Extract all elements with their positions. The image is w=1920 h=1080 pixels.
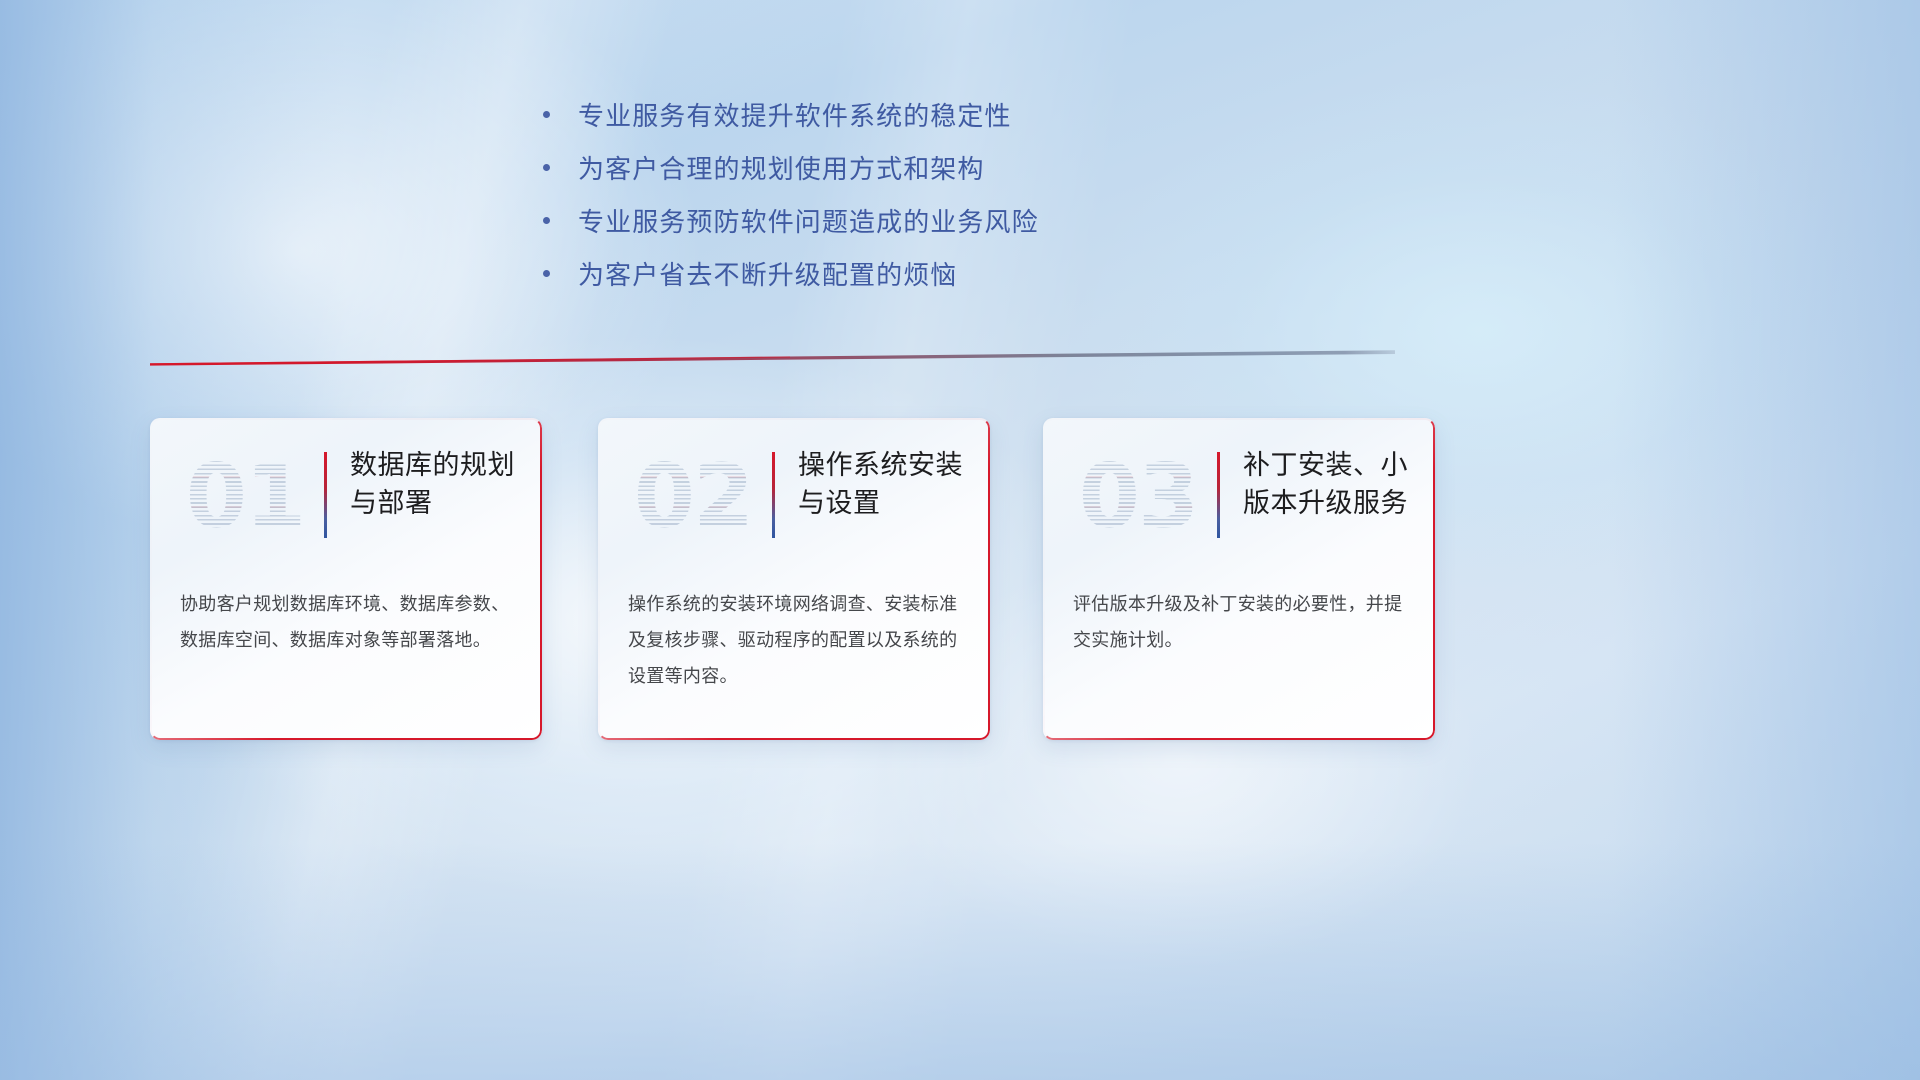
bullet-text: 为客户省去不断升级配置的烦恼 [578, 255, 957, 292]
card-number-text-tint: 03 [1073, 442, 1203, 550]
service-card[interactable]: 02 02 操作系统安装与设置 操作系统的安装环境网络调查、安装标准及复核步骤、… [598, 418, 990, 740]
card-header: 03 03 补丁安装、小版本升级服务 [1043, 418, 1435, 570]
card-number-watermark: 03 03 [1073, 442, 1203, 550]
card-number-watermark: 02 02 [628, 442, 758, 550]
card-title: 操作系统安装与设置 [798, 446, 988, 523]
service-card-row: 01 01 数据库的规划与部署 协助客户规划数据库环境、数据库参数、数据库空间、… [0, 418, 1920, 748]
bullet-text: 专业服务有效提升软件系统的稳定性 [578, 96, 1012, 133]
bullet-dot-icon [536, 217, 556, 224]
bullet-text: 为客户合理的规划使用方式和架构 [578, 149, 985, 186]
card-header: 02 02 操作系统安装与设置 [598, 418, 990, 570]
list-item: 专业服务预防软件问题造成的业务风险 [536, 194, 1039, 247]
card-number-text-tint: 02 [628, 442, 758, 550]
card-title: 补丁安装、小版本升级服务 [1243, 446, 1433, 523]
bullet-dot-icon [536, 164, 556, 171]
bullet-dot-icon [536, 270, 556, 277]
divider-wedge-icon [150, 348, 1395, 366]
section-divider [150, 348, 1395, 366]
card-body-text: 操作系统的安装环境网络调查、安装标准及复核步骤、驱动程序的配置以及系统的设置等内… [628, 586, 962, 694]
card-accent-rule [1217, 452, 1220, 538]
feature-bullet-list: 专业服务有效提升软件系统的稳定性 为客户合理的规划使用方式和架构 专业服务预防软… [536, 88, 1039, 300]
list-item: 为客户合理的规划使用方式和架构 [536, 141, 1039, 194]
card-number-text-tint: 01 [180, 442, 310, 550]
bullet-dot-icon [536, 111, 556, 118]
card-header: 01 01 数据库的规划与部署 [150, 418, 542, 570]
card-title: 数据库的规划与部署 [350, 446, 540, 523]
list-item: 为客户省去不断升级配置的烦恼 [536, 247, 1039, 300]
card-body-text: 协助客户规划数据库环境、数据库参数、数据库空间、数据库对象等部署落地。 [180, 586, 514, 658]
list-item: 专业服务有效提升软件系统的稳定性 [536, 88, 1039, 141]
card-accent-rule [772, 452, 775, 538]
service-card[interactable]: 03 03 补丁安装、小版本升级服务 评估版本升级及补丁安装的必要性，并提交实施… [1043, 418, 1435, 740]
service-card[interactable]: 01 01 数据库的规划与部署 协助客户规划数据库环境、数据库参数、数据库空间、… [150, 418, 542, 740]
bullet-text: 专业服务预防软件问题造成的业务风险 [578, 202, 1039, 239]
card-accent-rule [324, 452, 327, 538]
card-body-text: 评估版本升级及补丁安装的必要性，并提交实施计划。 [1073, 586, 1407, 658]
card-number-watermark: 01 01 [180, 442, 310, 550]
